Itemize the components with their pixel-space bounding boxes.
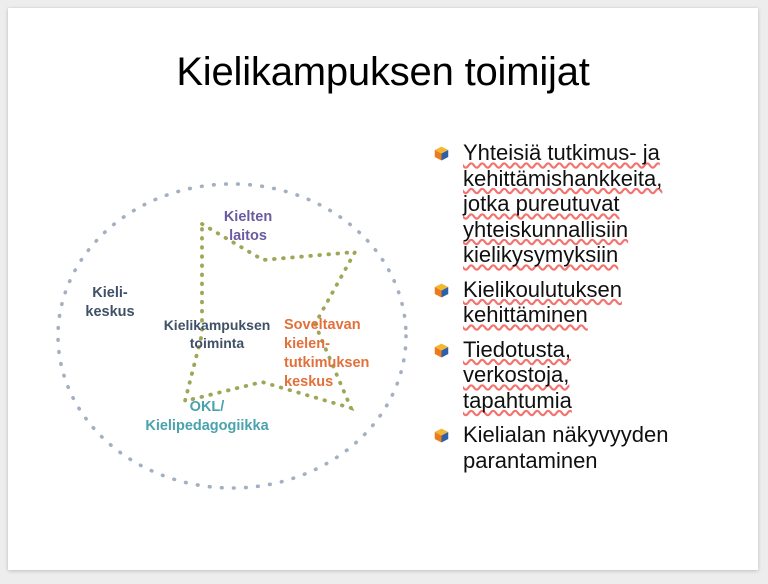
- list-item-text: Kielikoulutuksen kehittäminen: [463, 277, 750, 328]
- list-item-text: Tiedotusta, verkostoja, tapahtumia: [463, 337, 750, 414]
- slide-canvas: Kielikampuksen toimijat Kielten laitos K…: [8, 8, 758, 570]
- cube-bullet-icon: [434, 428, 449, 443]
- cube-bullet-icon: [434, 343, 449, 358]
- list-item-text: Kielialan näkyvyyden parantaminen: [463, 422, 750, 473]
- bullet-list: Yhteisiä tutkimus- ja kehittämishankkeit…: [434, 140, 750, 482]
- diagram-label-center: Kielikampuksen toiminta: [142, 316, 292, 353]
- cube-bullet-icon: [434, 146, 449, 161]
- diagram-label-kielten-laitos: Kielten laitos: [178, 208, 318, 246]
- cube-bullet-icon: [434, 283, 449, 298]
- concept-diagram: Kielten laitos Kieli- keskus Soveltavan …: [50, 176, 440, 506]
- list-item: Kielialan näkyvyyden parantaminen: [434, 422, 750, 473]
- diagram-label-okl-kielipedagogiikka: OKL/ Kielipedagogiikka: [112, 398, 302, 436]
- list-item: Yhteisiä tutkimus- ja kehittämishankkeit…: [434, 140, 750, 268]
- list-item: Tiedotusta, verkostoja, tapahtumia: [434, 337, 750, 414]
- diagram-label-soveltavan-kielentutkimuksen-keskus: Soveltavan kielen- tutkimuksen keskus: [284, 316, 424, 393]
- page-title: Kielikampuksen toimijat: [8, 50, 758, 95]
- list-item-text: Yhteisiä tutkimus- ja kehittämishankkeit…: [463, 140, 750, 268]
- list-item: Kielikoulutuksen kehittäminen: [434, 277, 750, 328]
